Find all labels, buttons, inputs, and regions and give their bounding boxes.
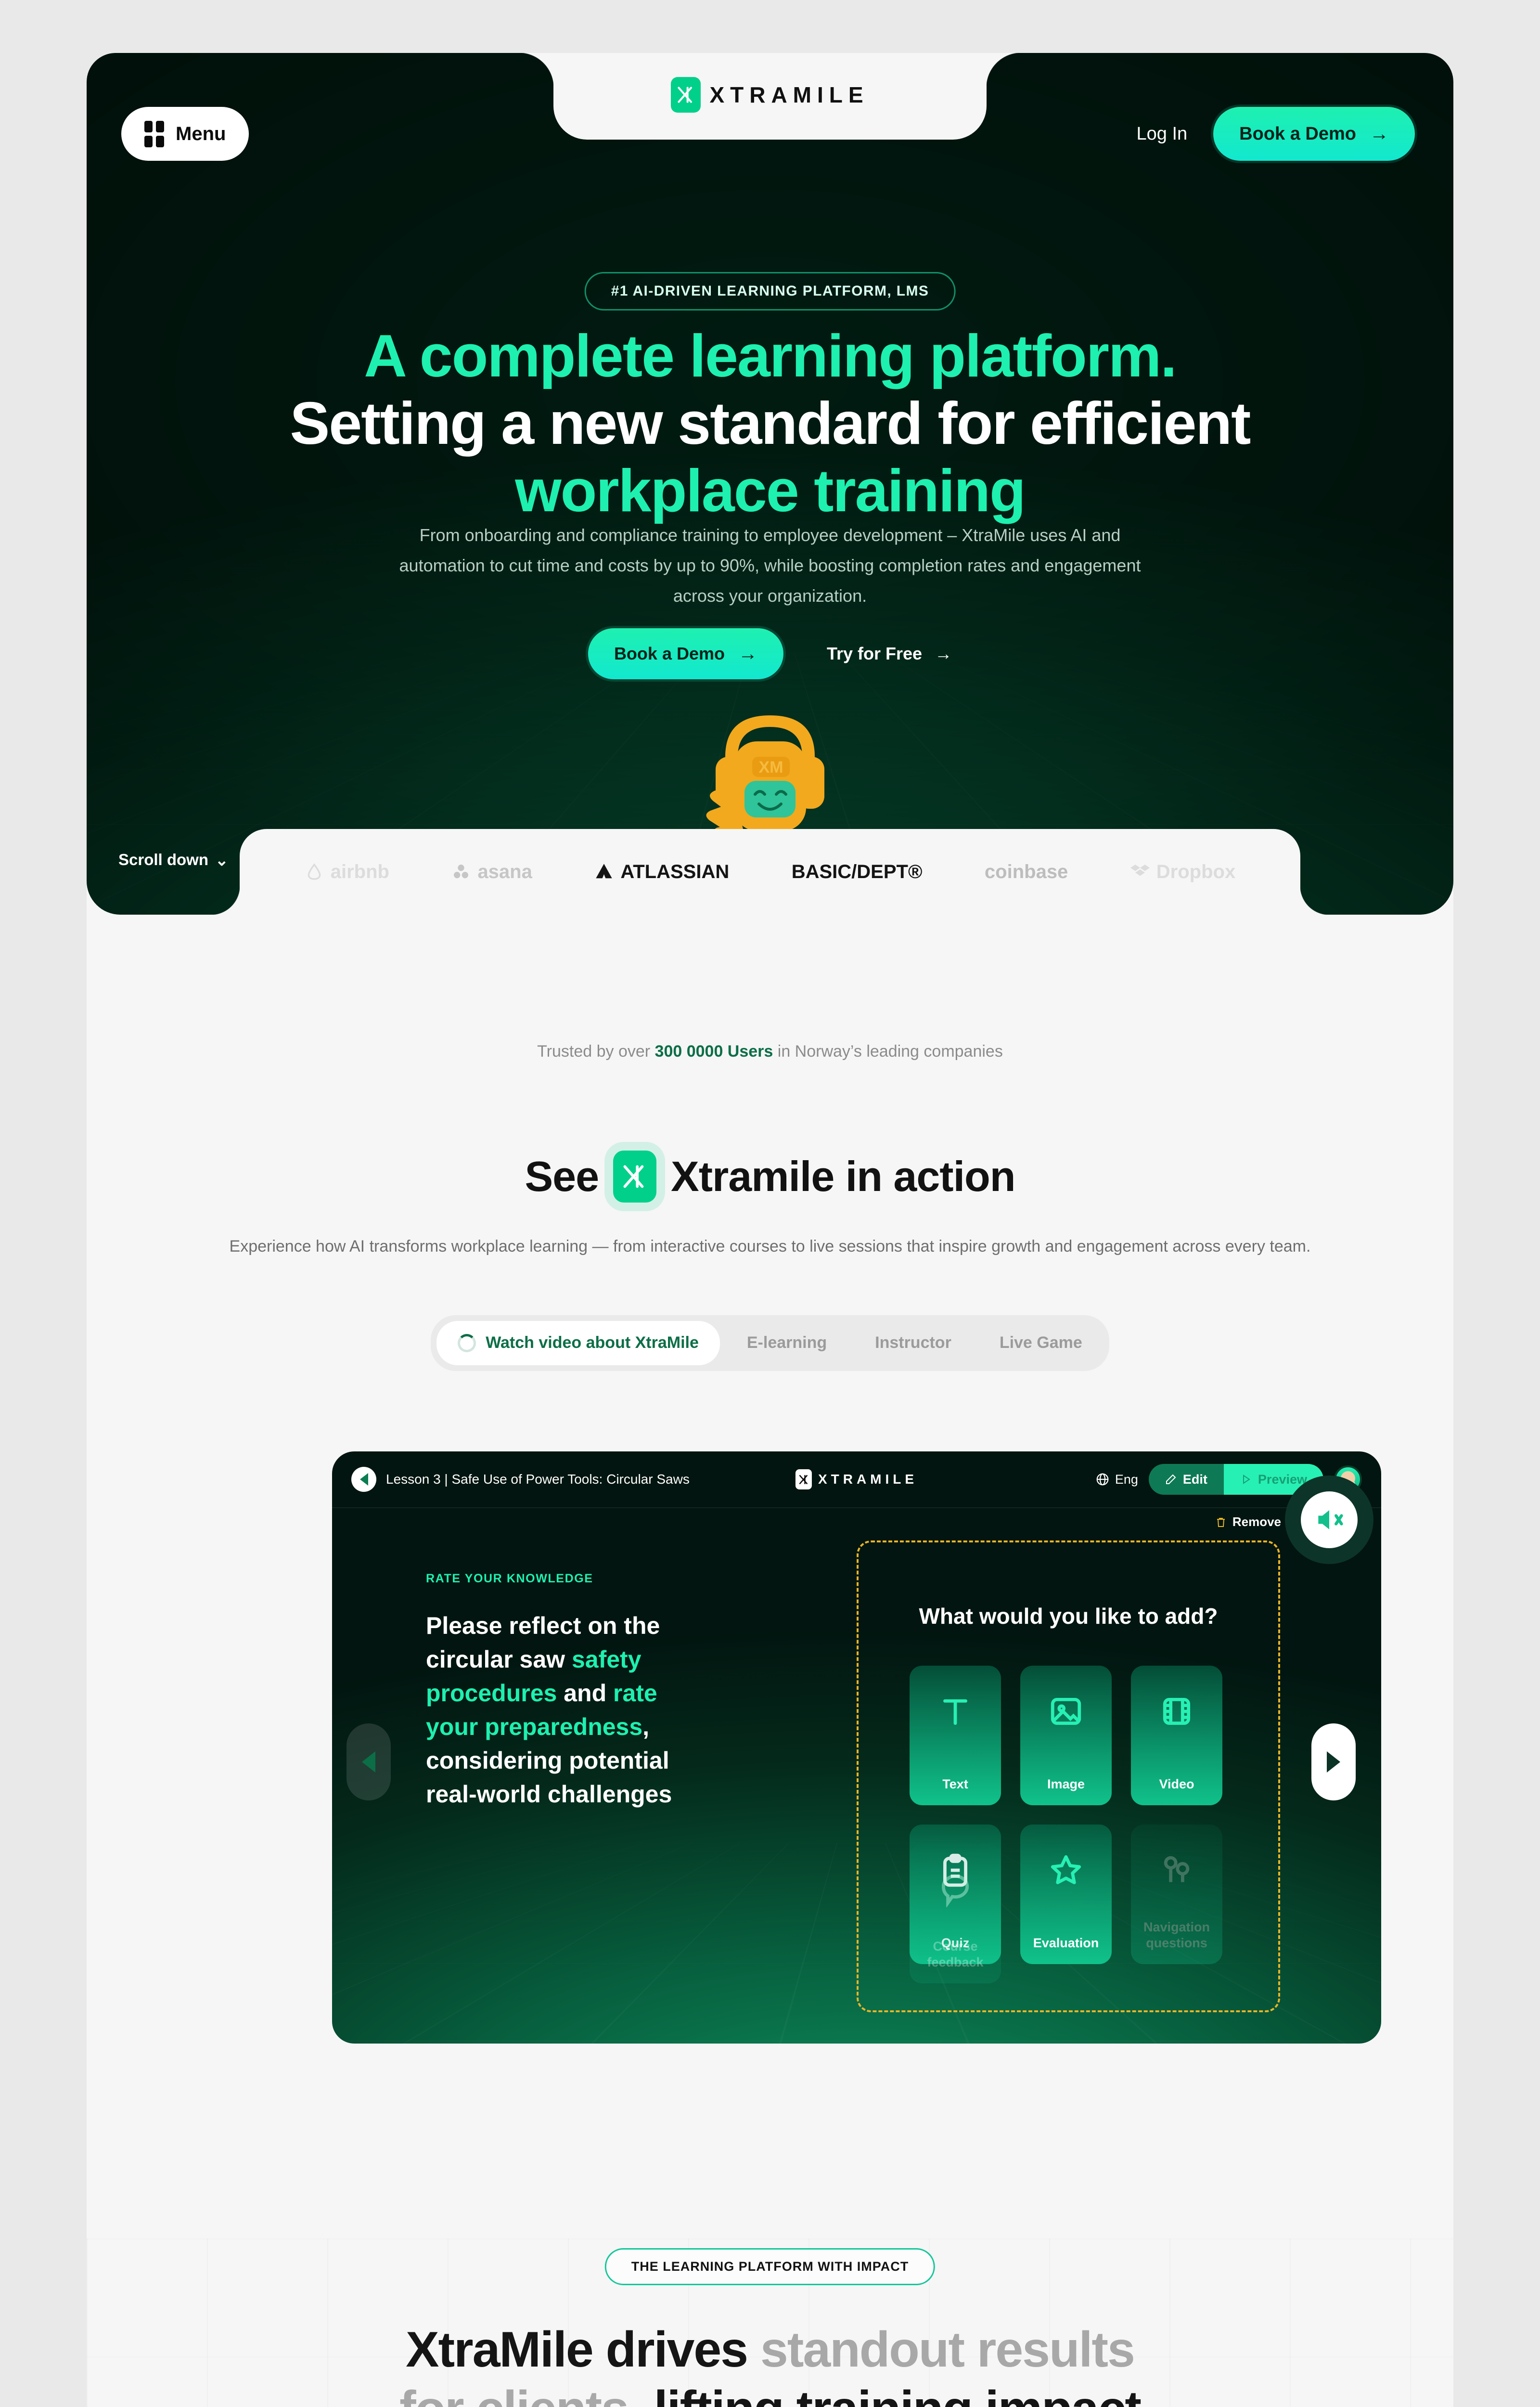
demo-tab-bar: Watch video about XtraMile E-learning In…: [431, 1315, 1109, 1371]
trusted-prefix: Trusted by over: [537, 1042, 654, 1061]
demo-brand-name: XTRAMILE: [818, 1472, 918, 1487]
arrow-right-icon: →: [738, 643, 757, 665]
menu-button[interactable]: Menu: [121, 107, 249, 161]
add-option-course-feedback[interactable]: Course feedback: [910, 1844, 1001, 1983]
logo-atlassian: ATLASSIAN: [594, 861, 729, 883]
play-icon: [1240, 1474, 1252, 1485]
results-heading-b: standout results: [760, 2322, 1134, 2378]
hero-book-demo-label: Book a Demo: [614, 644, 725, 664]
chevron-right-icon: [1327, 1751, 1340, 1773]
xtramile-mark-icon: [671, 77, 701, 113]
tab-e-learning[interactable]: E-learning: [726, 1321, 848, 1365]
tab-live-game[interactable]: Live Game: [978, 1321, 1104, 1365]
brand-logo[interactable]: XTRAMILE: [671, 77, 869, 113]
add-option-course-feedback-label: Course feedback: [910, 1939, 1001, 1971]
page-root: XTRAMILE Menu Log In Book a Demo → #1 AI…: [87, 53, 1453, 2407]
logo-asana-label: asana: [477, 861, 532, 883]
add-block-title: What would you like to add?: [857, 1603, 1280, 1629]
results-badge: THE LEARNING PLATFORM WITH IMPACT: [605, 2248, 935, 2285]
mascot-badge-text: XM: [759, 758, 783, 776]
logo-asana: asana: [451, 861, 532, 883]
video-icon: [1159, 1694, 1194, 1729]
loading-spinner-icon: [458, 1334, 476, 1352]
book-a-demo-button[interactable]: Book a Demo →: [1213, 107, 1415, 161]
remove-button[interactable]: Remove: [1215, 1514, 1281, 1529]
logo-atlassian-label: ATLASSIAN: [620, 861, 729, 883]
demo-kicker: RATE YOUR KNOWLEDGE: [426, 1572, 710, 1586]
navigation-icon: [1159, 1852, 1194, 1888]
demo-lesson-label: Lesson 3 | Safe Use of Power Tools: Circ…: [386, 1472, 690, 1487]
back-button[interactable]: [351, 1467, 376, 1492]
add-block-overlay: Remove What would you like to add? Text …: [857, 1536, 1290, 2036]
speaker-mute-icon: [1313, 1503, 1346, 1536]
hero-heading-line-1: A complete learning platform.: [364, 323, 1176, 389]
demo-toolbar: Lesson 3 | Safe Use of Power Tools: Circ…: [332, 1451, 1381, 1508]
results-section: THE LEARNING PLATFORM WITH IMPACT XtraMi…: [87, 2239, 1453, 2407]
trusted-count: 300 0000 Users: [655, 1042, 773, 1061]
logo-airbnb-label: airbnb: [331, 861, 389, 883]
demo-question-text: Please reflect on the circular saw safet…: [426, 1609, 710, 1811]
scroll-down-label: Scroll down: [118, 851, 208, 869]
hero-heading: A complete learning platform. Setting a …: [241, 323, 1299, 525]
add-option-navigation-label: Navigation questions: [1131, 1919, 1222, 1952]
trusted-by-line: Trusted by over 300 0000 Users in Norway…: [87, 1042, 1453, 1061]
logo-coinbase: coinbase: [985, 861, 1068, 883]
demo-brand: XTRAMILE: [796, 1469, 918, 1489]
hero-book-demo-button[interactable]: Book a Demo →: [588, 628, 783, 679]
q-part-2: and: [557, 1680, 613, 1707]
add-option-evaluation[interactable]: Evaluation: [1020, 1825, 1112, 1964]
preview-label: Preview: [1258, 1472, 1307, 1487]
arrow-right-icon: →: [1370, 123, 1389, 145]
demo-lesson-breadcrumb: Lesson 3 | Safe Use of Power Tools: Circ…: [351, 1467, 690, 1492]
logo-basicdept: BASIC/DEPT®: [792, 861, 923, 883]
remove-label: Remove: [1232, 1514, 1281, 1529]
sound-toggle-button[interactable]: [1285, 1475, 1373, 1564]
book-a-demo-label: Book a Demo: [1239, 124, 1356, 144]
hero-eyebrow-badge: #1 AI-DRIVEN LEARNING PLATFORM, LMS: [585, 272, 956, 311]
speech-bubble-icon: [937, 1872, 973, 1907]
trusted-suffix: in Norway’s leading companies: [773, 1042, 1003, 1061]
chevron-left-icon: [360, 1473, 368, 1486]
logo-airbnb: airbnb: [305, 861, 389, 883]
add-option-text[interactable]: Text: [910, 1666, 1001, 1805]
menu-label: Menu: [176, 123, 226, 145]
chevron-left-icon: [362, 1751, 375, 1773]
hero-subtitle: From onboarding and compliance training …: [380, 520, 1160, 611]
sound-toggle-inner: [1301, 1491, 1358, 1548]
tab-watch-video-label: Watch video about XtraMile: [486, 1333, 699, 1352]
client-logo-bar: airbnb asana ATLASSIAN BASIC/DEPT® coinb…: [240, 829, 1300, 915]
brand-name: XTRAMILE: [709, 82, 869, 108]
hero-heading-line-3: workplace training: [515, 458, 1025, 524]
add-option-text-label: Text: [942, 1776, 968, 1793]
arrow-right-icon: →: [935, 644, 952, 664]
results-heading-c: for clients: [399, 2381, 628, 2407]
image-icon: [1048, 1694, 1084, 1729]
demo-question-block: RATE YOUR KNOWLEDGE Please reflect on th…: [426, 1572, 710, 1811]
trash-icon: [1215, 1516, 1227, 1528]
try-for-free-label: Try for Free: [827, 644, 922, 664]
add-option-video-label: Video: [1159, 1776, 1194, 1793]
hero-cta-group: Book a Demo → Try for Free →: [588, 628, 952, 679]
results-heading-a: XtraMile drives: [406, 2322, 760, 2378]
results-heading-d: , lifting training impact: [628, 2381, 1141, 2407]
results-heading: XtraMile drives standout results for cli…: [245, 2320, 1295, 2407]
login-link[interactable]: Log In: [1137, 124, 1188, 144]
text-icon: [937, 1694, 973, 1729]
logo-bar-wrapper: Scroll down ⌄ airbnb asana ATLASSIAN BAS…: [87, 805, 1453, 915]
language-selector[interactable]: Eng: [1095, 1472, 1138, 1487]
add-option-evaluation-label: Evaluation: [1033, 1935, 1099, 1952]
try-for-free-link[interactable]: Try for Free →: [827, 644, 952, 664]
xtramile-badge-icon: [613, 1151, 656, 1203]
tab-watch-video[interactable]: Watch video about XtraMile: [436, 1321, 720, 1365]
hero-section: XTRAMILE Menu Log In Book a Demo → #1 AI…: [87, 53, 1453, 915]
see-in-action-heading: See Xtramile in action: [87, 1151, 1453, 1203]
header-notch: XTRAMILE: [553, 53, 987, 140]
star-icon: [1048, 1852, 1084, 1888]
logo-dropbox-label: Dropbox: [1156, 861, 1235, 883]
add-option-video[interactable]: Video: [1131, 1666, 1222, 1805]
tab-instructor[interactable]: Instructor: [854, 1321, 973, 1365]
edit-tab[interactable]: Edit: [1149, 1464, 1224, 1495]
globe-icon: [1095, 1472, 1110, 1487]
language-label: Eng: [1115, 1472, 1138, 1487]
edit-label: Edit: [1183, 1472, 1207, 1487]
see-in-action-title-before: See: [525, 1152, 599, 1201]
pencil-icon: [1165, 1474, 1177, 1485]
logo-dropbox: Dropbox: [1130, 861, 1235, 883]
demo-prev-button[interactable]: [346, 1723, 391, 1800]
menu-grid-icon: [144, 121, 164, 147]
xtramile-mark-icon: [796, 1469, 812, 1489]
hero-heading-line-2: Setting a new standard for efficient: [290, 390, 1250, 457]
demo-next-button[interactable]: [1311, 1723, 1356, 1800]
add-option-image-label: Image: [1047, 1776, 1085, 1793]
see-in-action-subtitle: Experience how AI transforms workplace l…: [87, 1232, 1453, 1261]
see-in-action-section: See Xtramile in action Experience how AI…: [87, 1151, 1453, 1371]
see-in-action-title-after: Xtramile in action: [671, 1152, 1015, 1201]
add-option-navigation-questions[interactable]: Navigation questions: [1131, 1825, 1222, 1964]
header-actions: Log In Book a Demo →: [1137, 107, 1415, 161]
chevron-down-icon: ⌄: [215, 851, 229, 869]
add-option-image[interactable]: Image: [1020, 1666, 1112, 1805]
